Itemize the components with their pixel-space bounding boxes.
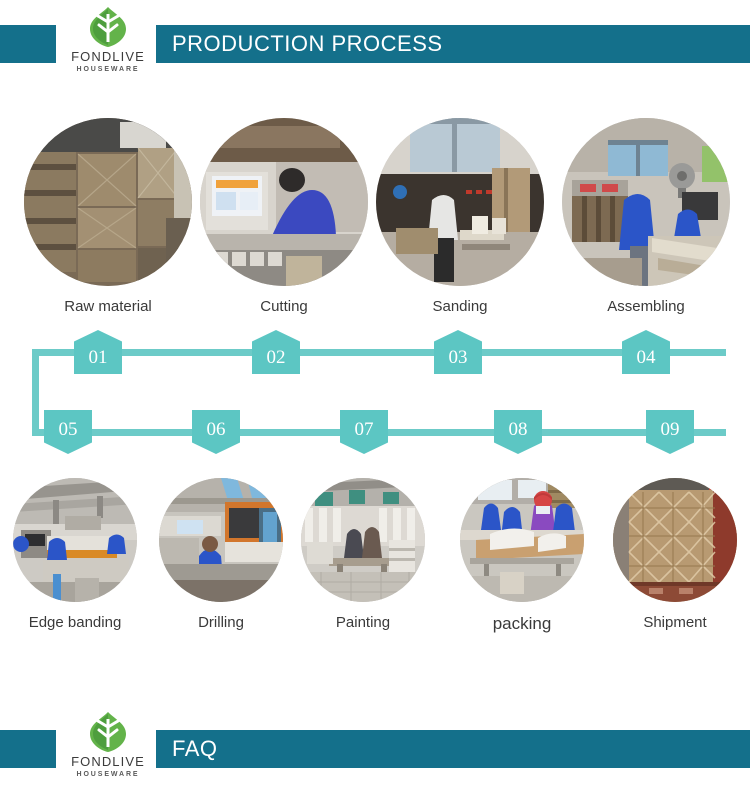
flow-badge-08: 08 <box>494 410 542 454</box>
fondlive-leaf-icon <box>86 6 130 48</box>
logo-tagline: HOUSEWARE <box>66 66 150 73</box>
footer-logo: FONDLIVE HOUSEWARE <box>66 711 150 783</box>
footer-bar-left-accent <box>0 730 56 768</box>
step-packing: packing <box>452 478 592 634</box>
flow-badge-03: 03 <box>434 330 482 374</box>
step-edge-banding: Edge banding <box>12 478 138 631</box>
flow-line-row1 <box>32 349 726 356</box>
step-photo-cutting <box>200 118 368 286</box>
step-shipment: Shipment <box>612 478 738 631</box>
step-label: Painting <box>300 614 426 631</box>
logo-wordmark: FONDLIVE <box>66 754 150 769</box>
step-painting: Painting <box>300 478 426 631</box>
header-logo: FONDLIVE HOUSEWARE <box>66 6 150 78</box>
flow-badge-06: 06 <box>192 410 240 454</box>
step-label: packing <box>452 614 592 634</box>
page-title: PRODUCTION PROCESS <box>172 25 443 63</box>
flow-badge-01: 01 <box>74 330 122 374</box>
step-sanding: Sanding <box>374 118 546 315</box>
footer-banner: FONDLIVE HOUSEWARE FAQ <box>0 705 750 785</box>
step-photo-painting <box>301 478 425 602</box>
header-bar-left-accent <box>0 25 56 63</box>
step-photo-sanding <box>376 118 544 286</box>
flow-badge-07: 07 <box>340 410 388 454</box>
step-label: Cutting <box>198 298 370 315</box>
flow-badge-04: 04 <box>622 330 670 374</box>
step-label: Sanding <box>374 298 546 315</box>
step-label: Shipment <box>612 614 738 631</box>
step-label: Edge banding <box>12 614 138 631</box>
step-photo-drilling <box>159 478 283 602</box>
step-raw-material: Raw material <box>22 118 194 315</box>
footer-bar-main <box>156 730 750 768</box>
step-photo-shipment <box>613 478 737 602</box>
step-photo-assembling <box>562 118 730 286</box>
footer-title: FAQ <box>172 730 218 768</box>
header-banner: FONDLIVE HOUSEWARE PRODUCTION PROCESS <box>0 0 750 80</box>
fondlive-leaf-icon <box>86 711 130 753</box>
step-label: Raw material <box>22 298 194 315</box>
flow-badge-09: 09 <box>646 410 694 454</box>
step-photo-packing <box>460 478 584 602</box>
step-assembling: Assembling <box>560 118 732 315</box>
logo-tagline: HOUSEWARE <box>66 771 150 778</box>
step-label: Drilling <box>158 614 284 631</box>
flow-badge-05: 05 <box>44 410 92 454</box>
step-photo-edge-banding <box>13 478 137 602</box>
step-label: Assembling <box>560 298 732 315</box>
step-cutting: Cutting <box>198 118 370 315</box>
step-photo-raw-material <box>24 118 192 286</box>
flow-line-vertical-left <box>32 349 39 436</box>
flow-badge-02: 02 <box>252 330 300 374</box>
process-flow-connector: 01 02 03 04 05 06 07 08 09 <box>0 330 750 460</box>
step-drilling: Drilling <box>158 478 284 631</box>
logo-wordmark: FONDLIVE <box>66 49 150 64</box>
